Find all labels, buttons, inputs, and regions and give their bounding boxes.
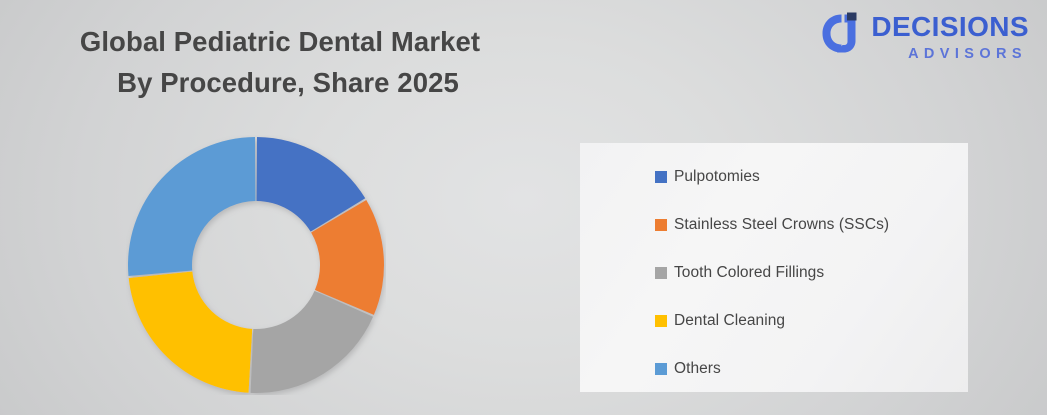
donut-slices [128, 137, 384, 393]
donut-chart [126, 135, 386, 395]
donut-slice[interactable] [128, 137, 255, 276]
donut-chart-svg [126, 135, 386, 395]
title-line-1: Global Pediatric Dental Market [0, 22, 560, 63]
legend-panel: PulpotomiesStainless Steel Crowns (SSCs)… [580, 143, 968, 392]
decisions-logo-mark-icon [820, 11, 862, 59]
legend-item[interactable]: Others [655, 357, 955, 381]
legend-label: Dental Cleaning [674, 312, 785, 330]
legend-swatch-icon [655, 219, 667, 231]
legend-swatch-icon [655, 267, 667, 279]
legend-item[interactable]: Dental Cleaning [655, 309, 955, 333]
legend-list: PulpotomiesStainless Steel Crowns (SSCs)… [655, 165, 955, 381]
legend-swatch-icon [655, 315, 667, 327]
legend-label: Pulpotomies [674, 168, 760, 186]
logo-name: DECISIONS [871, 13, 1029, 41]
legend-label: Others [674, 360, 721, 378]
brand-logo: DECISIONS ADVISORS [820, 10, 1029, 62]
legend-item[interactable]: Pulpotomies [655, 165, 955, 189]
title-line-2: By Procedure, Share 2025 [0, 63, 560, 104]
legend-swatch-icon [655, 363, 667, 375]
legend-label: Tooth Colored Fillings [674, 264, 824, 282]
legend-item[interactable]: Stainless Steel Crowns (SSCs) [655, 213, 955, 237]
legend-swatch-icon [655, 171, 667, 183]
legend-label: Stainless Steel Crowns (SSCs) [674, 216, 889, 234]
legend-item[interactable]: Tooth Colored Fillings [655, 261, 955, 285]
chart-canvas: Global Pediatric Dental Market By Proced… [0, 0, 1047, 415]
logo-text: DECISIONS ADVISORS [871, 10, 1029, 62]
logo-subtitle: ADVISORS [871, 47, 1029, 62]
page-title: Global Pediatric Dental Market By Proced… [0, 22, 560, 103]
donut-slice[interactable] [129, 272, 253, 393]
